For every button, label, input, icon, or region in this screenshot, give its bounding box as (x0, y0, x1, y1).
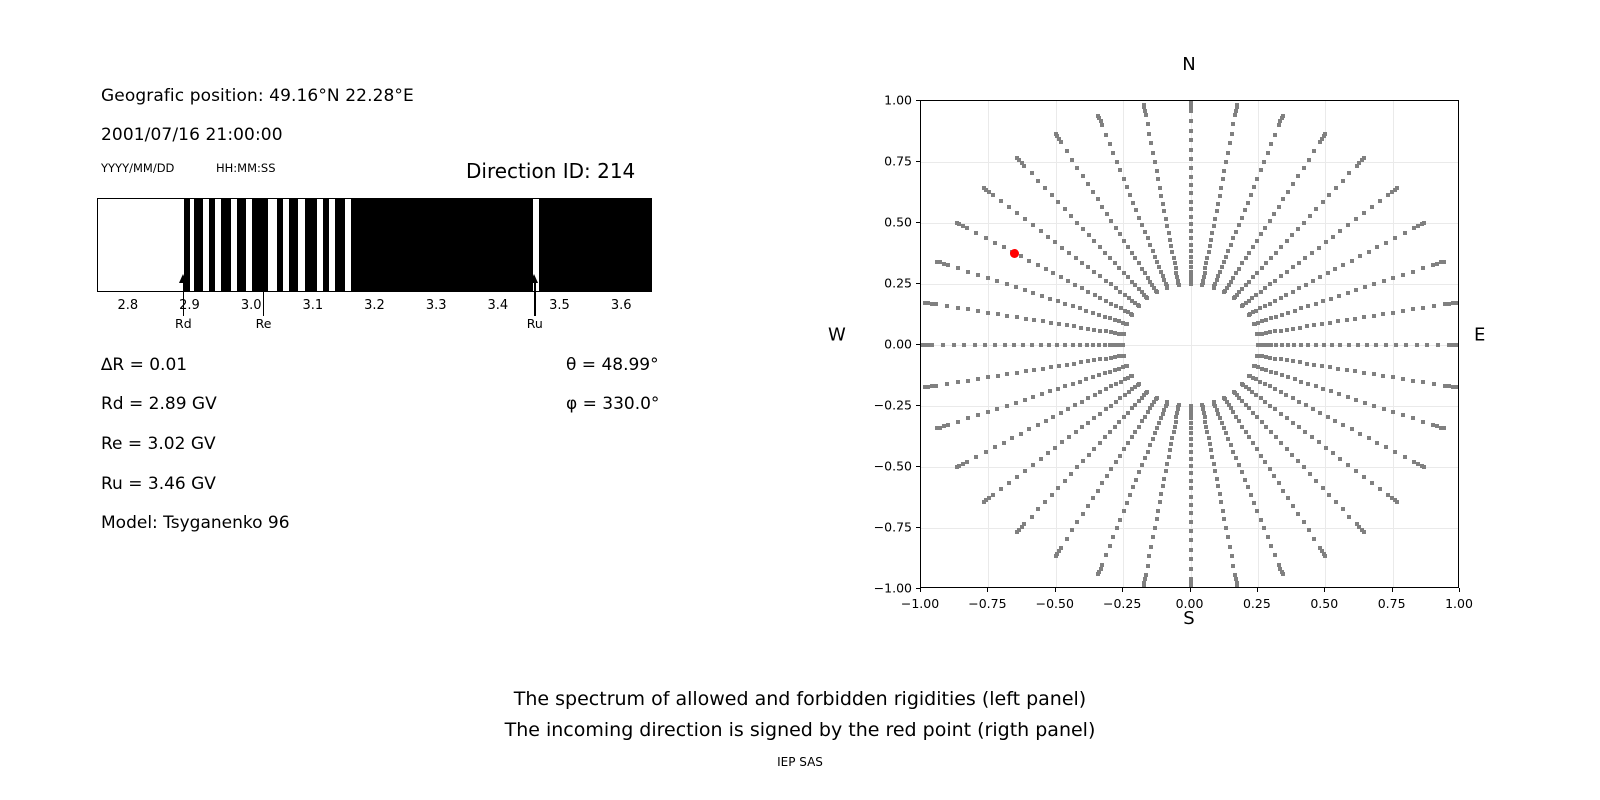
direction-point (1005, 282, 1009, 286)
direction-point (1189, 538, 1193, 542)
direction-point (1079, 360, 1083, 364)
rigidity-spectrum-panel: Geografic position: 49.16°N 22.28°E 2001… (0, 0, 760, 620)
direction-point (983, 343, 987, 347)
direction-point (1274, 371, 1278, 375)
direction-point (1189, 431, 1193, 435)
direction-point (1125, 501, 1129, 505)
direction-point (1331, 235, 1335, 239)
direction-point (941, 343, 945, 347)
direction-point (976, 413, 980, 417)
direction-point (1169, 244, 1173, 248)
direction-point (1048, 389, 1052, 393)
direction-point (1071, 382, 1075, 386)
direction-point (1149, 141, 1153, 145)
direction-point (1235, 581, 1239, 585)
direction-point (1126, 441, 1130, 445)
direction-point (1055, 343, 1059, 347)
marker-label: Ru (527, 316, 543, 331)
direction-point (1157, 421, 1161, 425)
direction-point (1059, 140, 1063, 144)
direction-point (1108, 430, 1112, 434)
direction-point (1312, 537, 1316, 541)
x-tick-label: 0.25 (1243, 596, 1271, 611)
direction-point (1143, 271, 1147, 275)
direction-point (1375, 441, 1379, 445)
direction-point (1341, 179, 1345, 183)
direction-point (1103, 435, 1107, 439)
direction-point (1273, 387, 1277, 391)
direction-point (1108, 256, 1112, 260)
direction-point (1189, 191, 1193, 195)
direction-point (1326, 271, 1330, 275)
direction-point (1231, 410, 1235, 414)
direction-point (1333, 267, 1337, 271)
direction-point (1318, 140, 1322, 144)
direction-point (1148, 243, 1152, 247)
direction-point (1097, 570, 1101, 574)
direction-point (1072, 362, 1076, 366)
direction-point (1354, 288, 1358, 292)
direction-point (1121, 321, 1125, 325)
direction-point (1151, 437, 1155, 441)
direction-point (1231, 450, 1235, 454)
forbidden-band (277, 199, 283, 291)
direction-point (1317, 246, 1321, 250)
direction-point (1209, 238, 1213, 242)
direction-point (1318, 275, 1322, 279)
direction-point (1358, 432, 1362, 436)
direction-point (1272, 212, 1276, 216)
direction-point (1251, 275, 1255, 279)
direction-point (1244, 430, 1248, 434)
direction-point (1231, 564, 1235, 568)
direction-point (1363, 401, 1367, 405)
y-tick-label: −1.00 (874, 581, 912, 596)
direction-point (1122, 509, 1126, 513)
direction-point (1109, 219, 1113, 223)
direction-point (1002, 441, 1006, 445)
direction-point (1218, 492, 1222, 496)
direction-point (1074, 430, 1078, 434)
direction-point (1403, 455, 1407, 459)
direction-point (1078, 380, 1082, 384)
direction-point (1212, 462, 1216, 466)
direction-point (1243, 478, 1247, 482)
direction-point (1118, 454, 1122, 458)
direction-point (1056, 299, 1060, 303)
direction-point (1231, 236, 1235, 240)
direction-point (1240, 287, 1244, 291)
direction-point (1146, 450, 1150, 454)
direction-point (1356, 343, 1360, 347)
direction-point (1104, 299, 1108, 303)
y-tick-label: 0.75 (884, 154, 912, 169)
direction-point (1039, 343, 1043, 347)
direction-point (1174, 271, 1178, 275)
direction-point (1381, 312, 1385, 316)
direction-point (1353, 317, 1357, 321)
direction-point (1303, 256, 1307, 260)
direction-point (1189, 129, 1193, 133)
direction-point (1104, 553, 1108, 557)
direction-point (1161, 484, 1165, 488)
direction-point (974, 231, 978, 235)
direction-point (1115, 160, 1119, 164)
direction-point (1126, 245, 1130, 249)
direction-point (952, 343, 956, 347)
direction-point (973, 343, 977, 347)
direction-point (1240, 216, 1244, 220)
direction-point (976, 377, 980, 381)
direction-point (1069, 214, 1073, 218)
direction-point (966, 270, 970, 274)
direction-point (1189, 200, 1193, 204)
direction-point (1215, 278, 1219, 282)
direction-point (1421, 380, 1425, 384)
direction-point (1086, 182, 1090, 186)
direction-point (1189, 101, 1193, 105)
direction-point (1121, 365, 1125, 369)
direction-point (1170, 250, 1174, 254)
direction-point (1391, 276, 1395, 280)
caption-line-1: The spectrum of allowed and forbidden ri… (0, 684, 1600, 715)
direction-point (1252, 501, 1256, 505)
direction-point (1085, 343, 1089, 347)
direction-point (1249, 493, 1253, 497)
direction-point (1032, 368, 1036, 372)
direction-point (1277, 123, 1281, 127)
direction-point (1097, 116, 1101, 120)
direction-point (1230, 554, 1234, 558)
direction-point (1234, 456, 1238, 460)
theta-value: θ = 48.99° (566, 355, 659, 375)
direction-point (976, 309, 980, 313)
y-tick-label: −0.50 (874, 459, 912, 474)
direction-point (1314, 479, 1318, 483)
direction-point (1334, 186, 1338, 190)
direction-point (1189, 416, 1193, 420)
direction-point (1266, 535, 1270, 539)
direction-point (1065, 149, 1069, 153)
direction-point (1015, 475, 1019, 479)
marker-shaft (534, 280, 536, 316)
direction-point (965, 226, 969, 230)
direction-point (1189, 138, 1193, 142)
direction-point (1221, 509, 1225, 513)
direction-point (1372, 404, 1376, 408)
direction-point (1354, 469, 1358, 473)
direction-point (1148, 280, 1152, 284)
direction-point (1403, 231, 1407, 235)
x-tick-label: −0.75 (968, 596, 1006, 611)
direction-point (934, 302, 938, 306)
direction-point (1279, 274, 1283, 278)
direction-point (1393, 188, 1397, 192)
direction-point (1260, 420, 1264, 424)
direction-point (946, 423, 950, 427)
direction-point (1268, 467, 1272, 471)
direction-point (1268, 356, 1272, 360)
direction-point (1113, 368, 1117, 372)
direction-point (1067, 435, 1071, 439)
direction-point (1146, 410, 1150, 414)
direction-point (1123, 377, 1127, 381)
direction-point (1075, 221, 1079, 225)
x-tick-label: −0.25 (1103, 596, 1141, 611)
direction-point (1092, 416, 1096, 420)
direction-point (1255, 239, 1259, 243)
direction-point (1114, 382, 1118, 386)
direction-point (1024, 369, 1028, 373)
direction-point (1321, 299, 1325, 303)
direction-point (1080, 286, 1084, 290)
direction-point (1324, 446, 1328, 450)
direction-point (1122, 239, 1126, 243)
direction-point (1401, 413, 1405, 417)
direction-point (1269, 256, 1273, 260)
direction-point (1063, 479, 1067, 483)
direction-point (1263, 400, 1267, 404)
direction-point (1425, 343, 1429, 347)
direction-point (1273, 357, 1277, 361)
direction-point (1304, 403, 1308, 407)
direction-point (1097, 373, 1101, 377)
direction-point (1108, 316, 1112, 320)
direction-point (1019, 254, 1023, 258)
direction-point (1189, 548, 1193, 552)
direction-point (1063, 302, 1067, 306)
direction-point (1272, 474, 1276, 478)
direction-point (1338, 229, 1342, 233)
direction-point (984, 188, 988, 192)
direction-point (1017, 528, 1021, 532)
direction-point (1255, 177, 1259, 181)
direction-point (1341, 423, 1345, 427)
direction-point (1155, 260, 1159, 264)
direction-point (1305, 324, 1309, 328)
direction-point (1234, 271, 1238, 275)
direction-point (1286, 343, 1290, 347)
direction-point (1312, 149, 1316, 153)
forbidden-band (209, 199, 215, 291)
direction-point (1168, 448, 1172, 452)
direction-point (1100, 481, 1104, 485)
direction-point (1036, 179, 1040, 183)
direction-point (1384, 241, 1388, 245)
direction-point (1375, 245, 1379, 249)
direction-point (1259, 518, 1263, 522)
x-tick-mark (1190, 588, 1191, 592)
direction-point (1290, 453, 1294, 457)
direction-point (1113, 425, 1117, 429)
direction-point (1291, 504, 1295, 508)
direction-point (1281, 489, 1285, 493)
direction-point (1104, 407, 1108, 411)
direction-point (1216, 484, 1220, 488)
direction-point (1155, 426, 1159, 430)
direction-point (1264, 261, 1268, 265)
direction-point (1235, 105, 1239, 109)
direction-point (1091, 343, 1095, 347)
direction-point (942, 424, 946, 428)
y-tick-mark (916, 222, 920, 223)
direction-point (1234, 230, 1238, 234)
direction-point (1130, 280, 1134, 284)
direction-point (1111, 535, 1115, 539)
direction-point (1308, 214, 1312, 218)
direction-point (1123, 309, 1127, 313)
x-tick-mark (920, 588, 921, 592)
direction-point (1084, 309, 1088, 313)
direction-point (1123, 293, 1127, 297)
direction-point (1176, 279, 1180, 283)
x-tick-label: −1.00 (901, 596, 939, 611)
direction-point (1098, 245, 1102, 249)
direction-point (966, 307, 970, 311)
direction-point (956, 266, 960, 270)
model-value: Model: Tsyganenko 96 (101, 513, 290, 533)
direction-point (1205, 256, 1209, 260)
direction-point (1091, 311, 1095, 315)
direction-point (1279, 296, 1283, 300)
direction-point (1291, 327, 1295, 331)
direction-point (1280, 570, 1284, 574)
direction-point (1213, 217, 1217, 221)
direction-point (1189, 464, 1193, 468)
direction-point (1092, 447, 1096, 451)
direction-point (1268, 404, 1272, 408)
direction-point (1092, 358, 1096, 362)
direction-point (1137, 261, 1141, 265)
direction-point (1108, 544, 1112, 548)
direction-point (1067, 251, 1071, 255)
direction-point (1189, 457, 1193, 461)
direction-point (1228, 141, 1232, 145)
y-tick-mark (916, 466, 920, 467)
direction-point (1091, 496, 1095, 500)
x-tick-label: 0.50 (1310, 596, 1338, 611)
direction-point (1274, 251, 1278, 255)
direction-point (1273, 133, 1277, 137)
direction-point (1264, 368, 1268, 372)
direction-point (1420, 222, 1424, 226)
direction-point (1336, 367, 1340, 371)
direction-point (1134, 208, 1138, 212)
direction-point (1341, 263, 1345, 267)
direction-point (1173, 261, 1177, 265)
direction-point (1306, 343, 1310, 347)
direction-point (1281, 197, 1285, 201)
direction-point (1142, 581, 1146, 585)
direction-point (1031, 395, 1035, 399)
direction-point (945, 304, 949, 308)
direction-point (1118, 232, 1122, 236)
direction-point (1043, 186, 1047, 190)
direction-point (1218, 270, 1222, 274)
direction-point (1128, 193, 1132, 197)
direction-point (1041, 319, 1045, 323)
direction-point (1279, 412, 1283, 416)
direction-point (984, 450, 988, 454)
direction-point (1189, 207, 1193, 211)
direction-point (1143, 415, 1147, 419)
direction-point (1384, 445, 1388, 449)
direction-point (1007, 481, 1011, 485)
forbidden-band (289, 199, 298, 291)
direction-point (1030, 343, 1034, 347)
direction-point (1075, 166, 1079, 170)
direction-point (1205, 430, 1209, 434)
direction-point (1297, 400, 1301, 404)
direction-point (1215, 477, 1219, 481)
direction-point (1170, 436, 1174, 440)
direction-point (966, 379, 970, 383)
direction-point (1096, 197, 1100, 201)
x-tick-mark (1055, 588, 1056, 592)
direction-point (1291, 421, 1295, 425)
direction-point (1127, 296, 1131, 300)
direction-point (965, 460, 969, 464)
direction-point (1347, 515, 1351, 519)
direction-point (1314, 343, 1318, 347)
direction-point (1100, 123, 1104, 127)
direction-point (1382, 407, 1386, 411)
direction-point (1362, 211, 1366, 215)
direction-point (1189, 109, 1193, 113)
direction-point (1391, 410, 1395, 414)
direction-point (1311, 407, 1315, 411)
direction-point (1125, 185, 1129, 189)
direction-point (1189, 148, 1193, 152)
x-tick-mark (1257, 588, 1258, 592)
y-tick-label: 0.25 (884, 276, 912, 291)
y-tick-label: −0.25 (874, 398, 912, 413)
caption-line-2: The incoming direction is signed by the … (0, 715, 1600, 746)
direction-point (1164, 469, 1168, 473)
direction-point (1273, 407, 1277, 411)
direction-point (996, 374, 1000, 378)
direction-point (1023, 217, 1027, 221)
rigidity-tick-label: 2.8 (117, 298, 138, 313)
direction-point (1065, 537, 1069, 541)
direction-point (956, 420, 960, 424)
direction-point (1439, 426, 1443, 430)
direction-point (1302, 221, 1306, 225)
direction-point (1111, 151, 1115, 155)
forbidden-band (221, 199, 230, 291)
direction-point (1153, 255, 1157, 259)
direction-point (1118, 518, 1122, 522)
direction-point (1308, 472, 1312, 476)
forbidden-band (237, 199, 246, 291)
x-tick-mark (1459, 588, 1460, 592)
direction-point (1362, 475, 1366, 479)
direction-point (1378, 487, 1382, 491)
direction-point (1246, 485, 1250, 489)
direction-point (1046, 235, 1050, 239)
direction-point (1298, 360, 1302, 364)
direction-point (1049, 365, 1053, 369)
direction-point (1189, 567, 1193, 571)
direction-point (1024, 317, 1028, 321)
direction-point (1143, 230, 1147, 234)
direction-point (1322, 134, 1326, 138)
direction-point (1103, 371, 1107, 375)
direction-point (1092, 328, 1096, 332)
direction-point (1151, 249, 1155, 253)
direction-point (1158, 500, 1162, 504)
direction-point (1003, 343, 1007, 347)
